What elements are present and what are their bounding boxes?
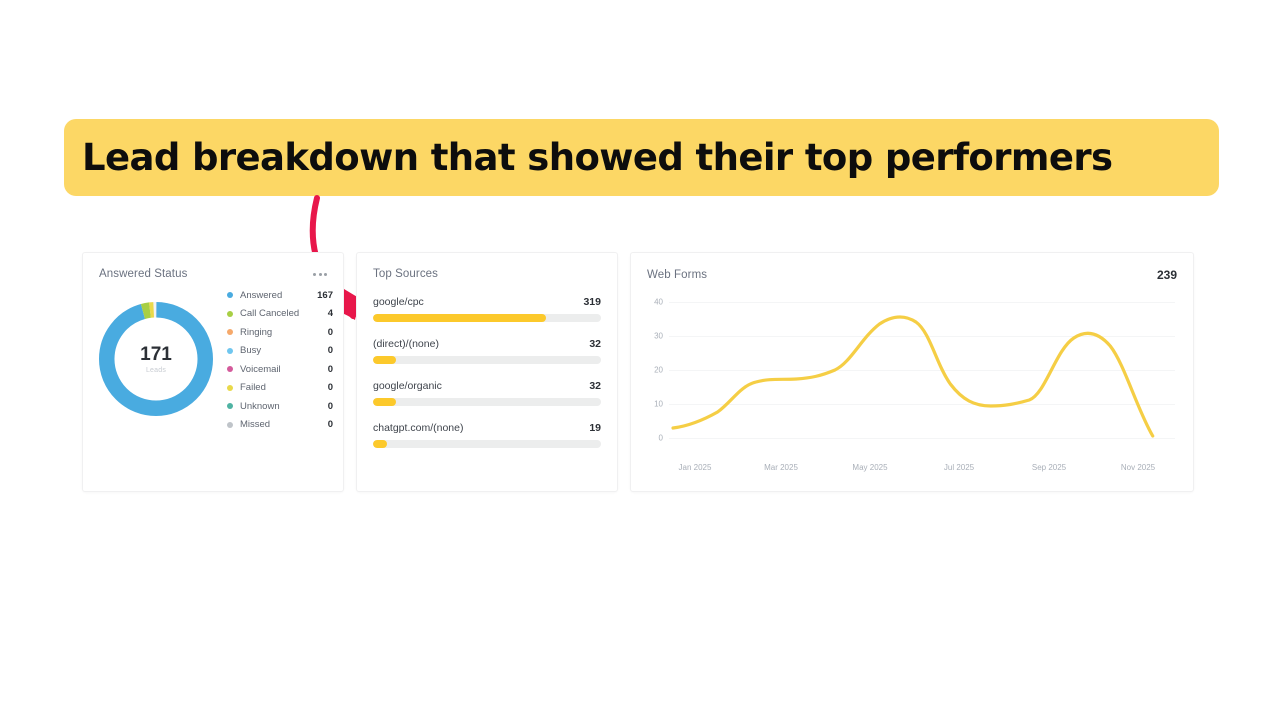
y-axis-tick: 0 <box>643 434 663 443</box>
source-value: 32 <box>589 380 601 392</box>
callout-banner-text: Lead breakdown that showed their top per… <box>82 136 1112 179</box>
top-sources-header: Top Sources <box>357 253 617 280</box>
x-axis-tick: Nov 2025 <box>1121 463 1155 472</box>
legend-label: Missed <box>240 419 313 430</box>
source-item-header: chatgpt.com/(none) 19 <box>373 422 601 434</box>
source-name: google/organic <box>373 380 442 392</box>
source-bar-fill <box>373 356 396 364</box>
legend-item[interactable]: Missed 0 <box>227 416 333 435</box>
source-bar-track <box>373 440 601 448</box>
legend-color-dot <box>227 422 233 428</box>
source-name: google/cpc <box>373 296 424 308</box>
dashboard-row: Answered Status 171 Leads <box>82 252 1194 492</box>
x-axis-tick: Jul 2025 <box>944 463 974 472</box>
top-sources-list: google/cpc 319 (direct)/(none) 32 go <box>357 280 617 448</box>
legend-label: Voicemail <box>240 364 313 375</box>
y-axis-tick: 20 <box>643 366 663 375</box>
legend-label: Busy <box>240 345 313 356</box>
more-options-icon[interactable] <box>313 273 327 276</box>
source-item[interactable]: google/organic 32 <box>373 380 601 406</box>
source-bar-fill <box>373 314 546 322</box>
card-top-sources: Top Sources google/cpc 319 (direct)/(non… <box>356 252 618 492</box>
legend-color-dot <box>227 311 233 317</box>
x-axis-tick: Sep 2025 <box>1032 463 1066 472</box>
donut-center-value: 171 <box>140 345 172 364</box>
x-axis-tick: May 2025 <box>852 463 887 472</box>
source-value: 319 <box>583 296 601 308</box>
legend-label: Ringing <box>240 327 313 338</box>
x-axis-tick: Jan 2025 <box>679 463 712 472</box>
donut-center-labels: 171 Leads <box>91 294 221 424</box>
legend-color-dot <box>227 385 233 391</box>
x-axis-tick: Mar 2025 <box>764 463 798 472</box>
source-bar-fill <box>373 398 396 406</box>
legend-item[interactable]: Answered 167 <box>227 286 333 305</box>
y-axis-tick: 40 <box>643 298 663 307</box>
source-bar-track <box>373 356 601 364</box>
web-forms-total: 239 <box>1157 268 1177 282</box>
source-item-header: (direct)/(none) 32 <box>373 338 601 350</box>
legend-item[interactable]: Busy 0 <box>227 342 333 361</box>
legend-item[interactable]: Ringing 0 <box>227 323 333 342</box>
y-axis-tick: 10 <box>643 400 663 409</box>
legend-value: 0 <box>313 345 333 356</box>
web-forms-title: Web Forms <box>647 269 707 281</box>
source-name: (direct)/(none) <box>373 338 439 350</box>
answered-status-body: 171 Leads Answered 167 Call Canceled 4 <box>83 280 343 434</box>
card-web-forms: Web Forms 239 40 30 20 10 0 <box>630 252 1194 492</box>
legend-label: Failed <box>240 382 313 393</box>
legend-value: 167 <box>313 290 333 301</box>
legend-value: 4 <box>313 308 333 319</box>
answered-status-legend: Answered 167 Call Canceled 4 Ringing 0 B… <box>221 284 333 434</box>
top-sources-title: Top Sources <box>373 268 438 280</box>
source-bar-track <box>373 314 601 322</box>
source-bar-track <box>373 398 601 406</box>
answered-status-header: Answered Status <box>83 253 343 280</box>
legend-value: 0 <box>313 382 333 393</box>
source-item[interactable]: (direct)/(none) 32 <box>373 338 601 364</box>
source-value: 32 <box>589 338 601 350</box>
card-answered-status: Answered Status 171 Leads <box>82 252 344 492</box>
legend-color-dot <box>227 348 233 354</box>
source-item-header: google/organic 32 <box>373 380 601 392</box>
legend-item[interactable]: Failed 0 <box>227 379 333 398</box>
legend-color-dot <box>227 403 233 409</box>
chart-area: 40 30 20 10 0 Jan 2025 Mar 2025 May 2025… <box>643 290 1179 478</box>
web-forms-line-svg <box>669 290 1175 450</box>
legend-label: Call Canceled <box>240 308 313 319</box>
donut-center-label: Leads <box>146 367 166 374</box>
y-axis-tick: 30 <box>643 332 663 341</box>
legend-item[interactable]: Voicemail 0 <box>227 360 333 379</box>
legend-item[interactable]: Unknown 0 <box>227 397 333 416</box>
legend-value: 0 <box>313 327 333 338</box>
source-name: chatgpt.com/(none) <box>373 422 463 434</box>
source-bar-fill <box>373 440 387 448</box>
source-value: 19 <box>589 422 601 434</box>
donut-chart: 171 Leads <box>91 294 221 424</box>
source-item-header: google/cpc 319 <box>373 296 601 308</box>
web-forms-line-path <box>673 317 1153 436</box>
legend-color-dot <box>227 292 233 298</box>
legend-value: 0 <box>313 419 333 430</box>
legend-item[interactable]: Call Canceled 4 <box>227 305 333 324</box>
legend-value: 0 <box>313 401 333 412</box>
callout-banner: Lead breakdown that showed their top per… <box>64 119 1219 196</box>
chart-plot-area <box>669 290 1175 450</box>
web-forms-header: Web Forms 239 <box>631 253 1193 282</box>
web-forms-chart: 40 30 20 10 0 Jan 2025 Mar 2025 May 2025… <box>631 282 1193 478</box>
legend-label: Unknown <box>240 401 313 412</box>
legend-color-dot <box>227 329 233 335</box>
legend-color-dot <box>227 366 233 372</box>
source-item[interactable]: google/cpc 319 <box>373 296 601 322</box>
legend-value: 0 <box>313 364 333 375</box>
source-item[interactable]: chatgpt.com/(none) 19 <box>373 422 601 448</box>
legend-label: Answered <box>240 290 313 301</box>
answered-status-title: Answered Status <box>99 268 187 280</box>
